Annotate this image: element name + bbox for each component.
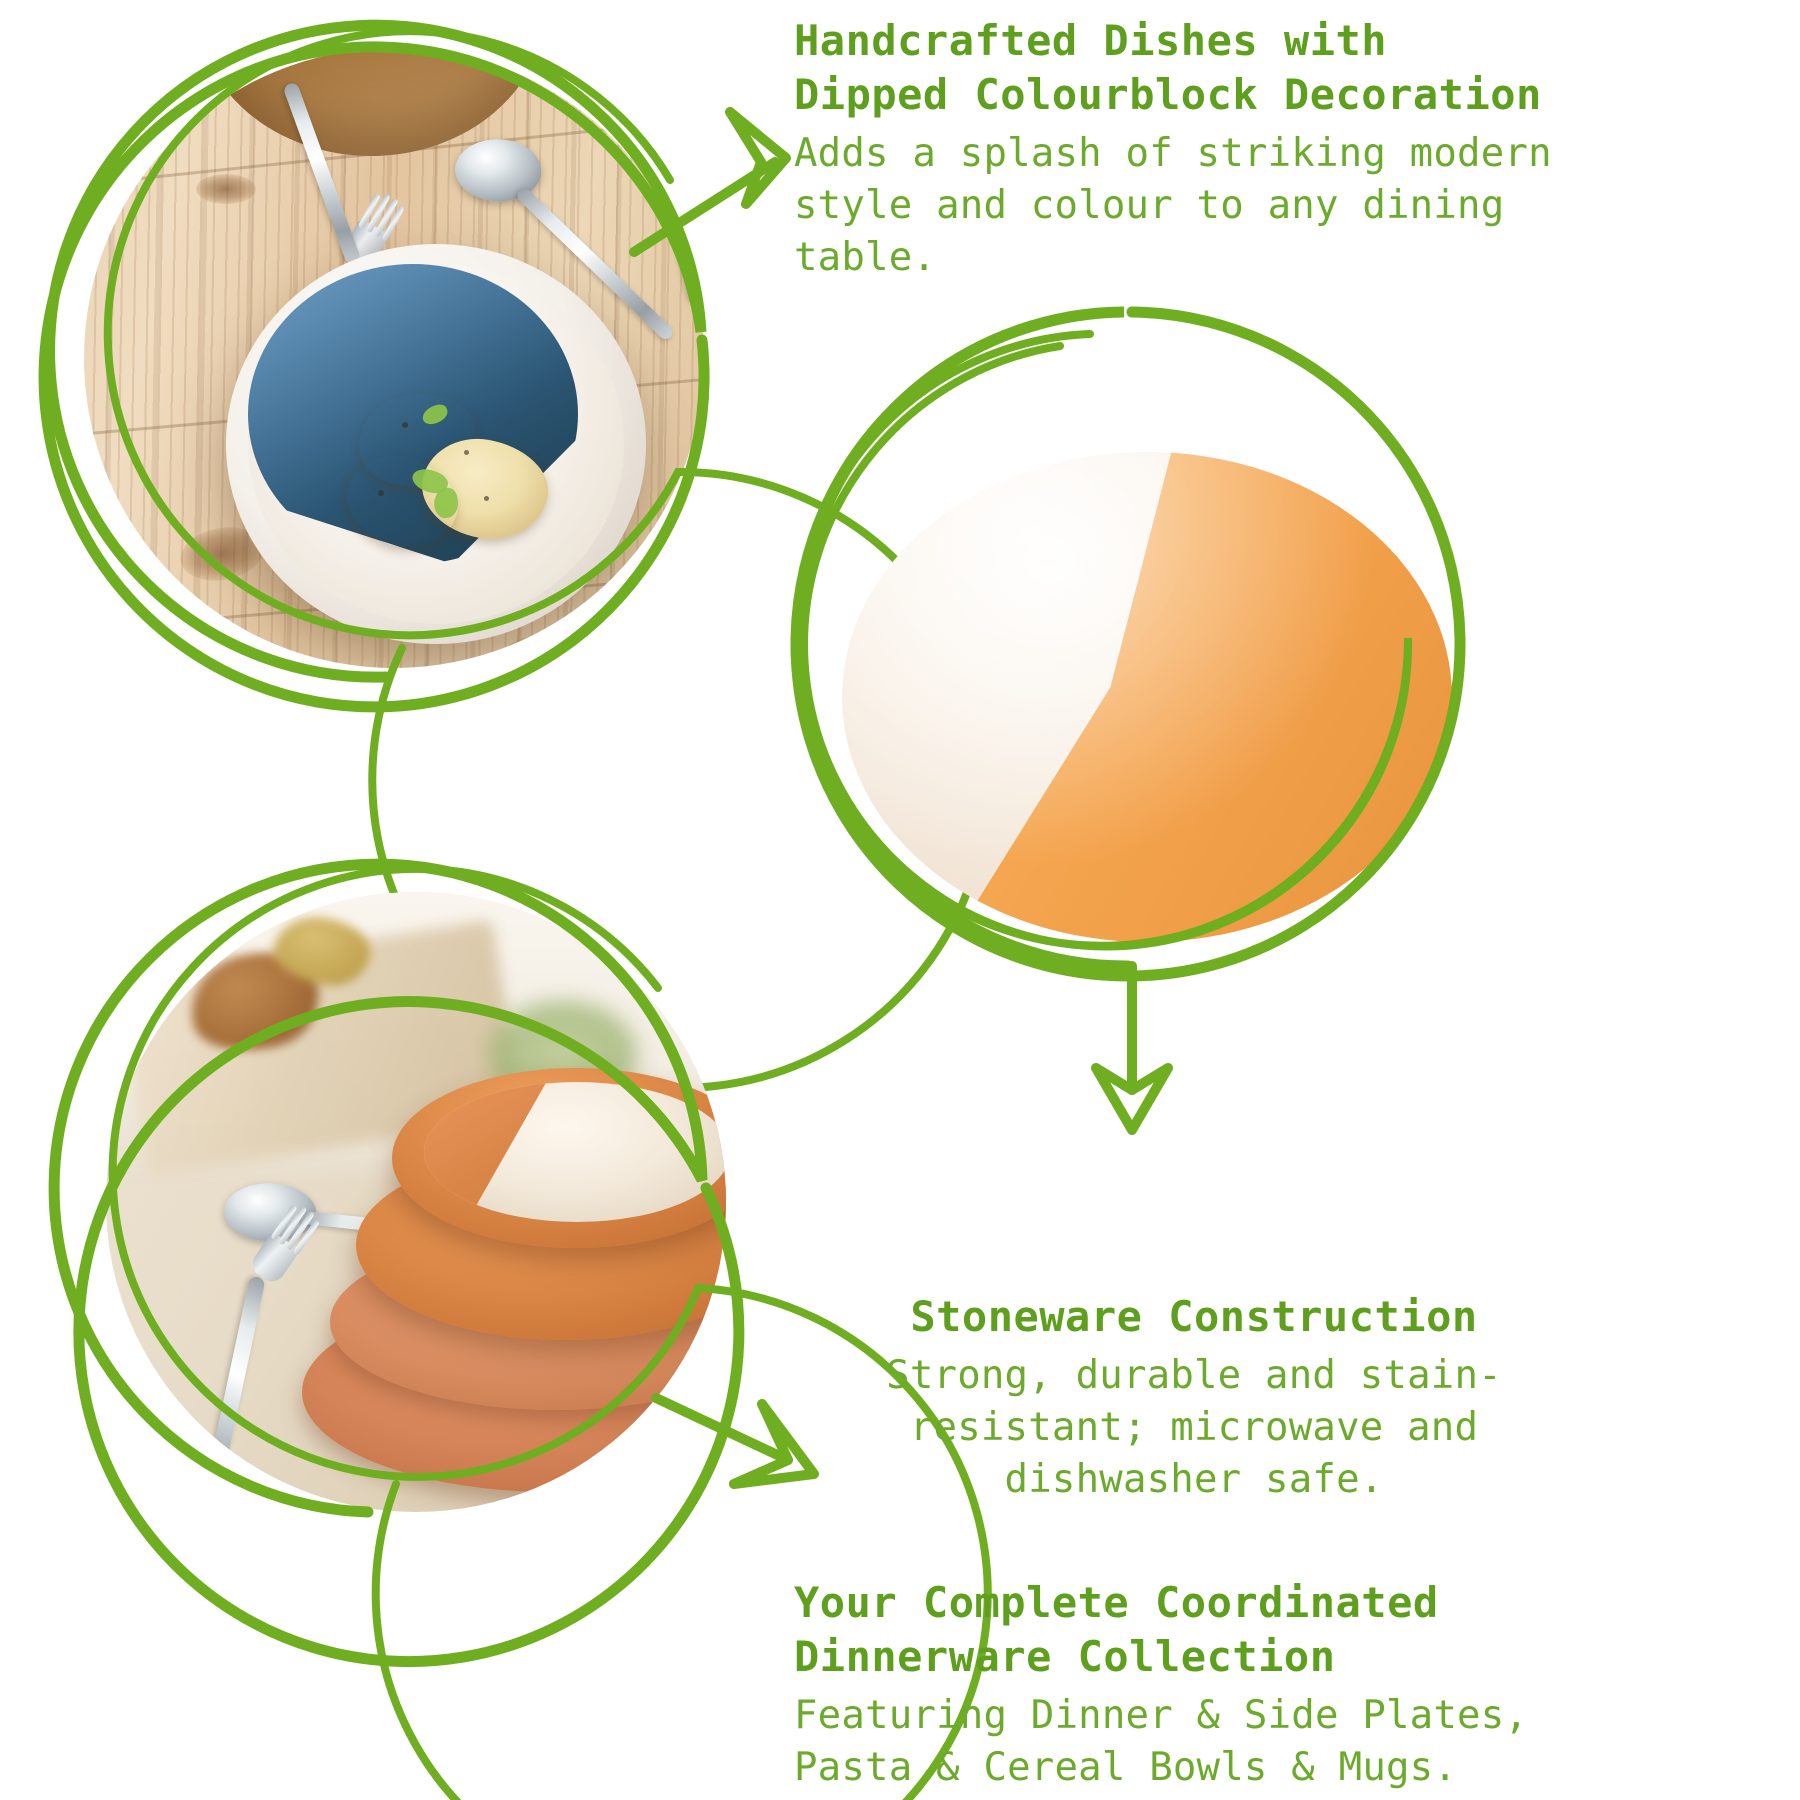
scene-blue-bowl-ravioli (84, 48, 704, 668)
photo-circle-collection (106, 892, 726, 1512)
feature-heading: Your Complete Coordinated Dinnerware Col… (794, 1576, 1794, 1684)
infographic-canvas: Handcrafted Dishes with Dipped Colourblo… (0, 0, 1800, 1800)
pepper-speck (378, 490, 384, 496)
feature-body: Strong, durable and stain- resistant; mi… (784, 1350, 1604, 1506)
feature-heading: Stoneware Construction (784, 1290, 1604, 1344)
fork-handle (200, 1276, 266, 1512)
bowl-gloss-highlight (842, 452, 1452, 942)
pepper-speck (484, 496, 489, 501)
feature-body: Featuring Dinner & Side Plates, Pasta & … (794, 1690, 1794, 1794)
photo-circle-handcrafted (84, 48, 704, 668)
feature-text-stoneware: Stoneware Construction Strong, durable a… (784, 1290, 1604, 1506)
feature-text-handcrafted: Handcrafted Dishes with Dipped Colourblo… (794, 14, 1754, 284)
feature-text-collection: Your Complete Coordinated Dinnerware Col… (794, 1576, 1794, 1794)
knife-handle (649, 106, 704, 306)
pepper-speck (402, 422, 408, 428)
feature-body: Adds a splash of striking modern style a… (794, 128, 1754, 284)
blue-dipped-bowl (226, 244, 646, 644)
wood-knot (504, 634, 600, 668)
pepper-speck (464, 450, 469, 455)
feature-heading: Handcrafted Dishes with Dipped Colourblo… (794, 14, 1754, 122)
scene-terracotta-stack (106, 892, 726, 1512)
photo-circle-stoneware (842, 452, 1452, 942)
